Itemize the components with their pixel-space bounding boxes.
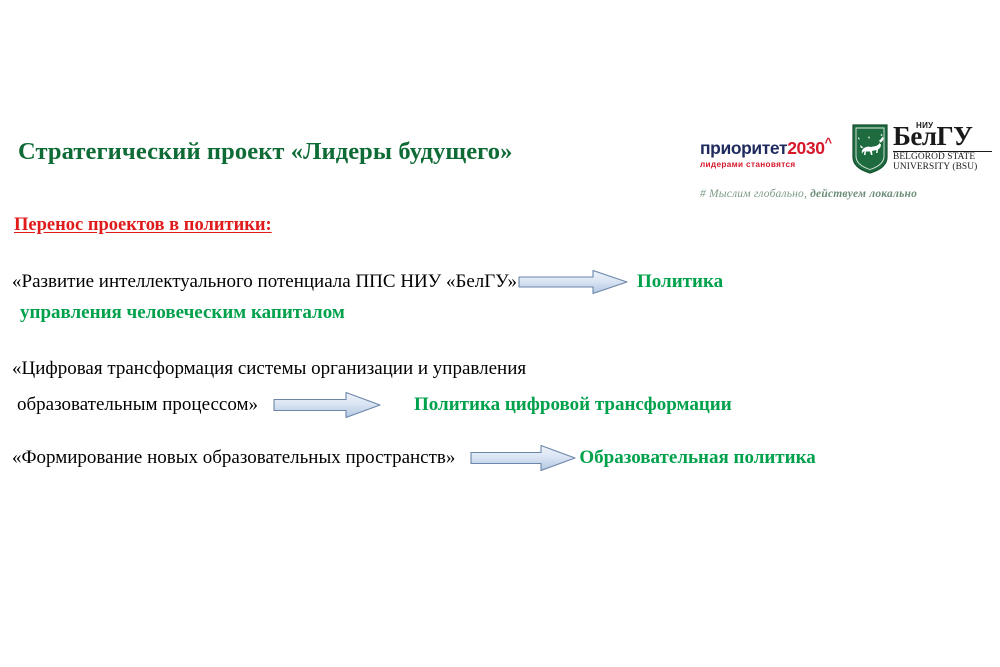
mapping-row-line: образовательным процессом» Политика цифр… — [17, 390, 732, 420]
bsu-logo-text: БелГУ НИУ BELGOROD STATE UNIVERSITY (BSU… — [893, 124, 993, 173]
mapping-source-text: «Формирование новых образовательных прос… — [12, 447, 455, 469]
mapping-source-text: «Развитие интеллектуального потенциала П… — [12, 271, 517, 293]
bsu-tagline: # Мыслим глобально, действуем локально — [700, 188, 917, 200]
mapping-row: «Формирование новых образовательных прос… — [12, 443, 816, 473]
bsu-logo: БелГУ НИУ BELGOROD STATE UNIVERSITY (BSU… — [852, 124, 992, 182]
mapping-row-line: управления человеческим капиталом — [14, 302, 723, 324]
mapping-row-line: «Формирование новых образовательных прос… — [12, 443, 816, 473]
mapping-row: «Цифровая трансформация системы организа… — [12, 358, 732, 420]
section-heading: Перенос проектов в политики: — [14, 215, 272, 236]
mapping-target-text: Политика — [637, 271, 723, 293]
mapping-target-text-cont: управления человеческим капиталом — [20, 302, 345, 324]
bsu-tagline-prefix: # Мыслим глобально, — [700, 188, 807, 200]
right-arrow-icon — [469, 443, 577, 473]
slide-canvas: приоритет2030^ лидерами становятся — [0, 0, 1000, 667]
bsu-niu-label: НИУ — [916, 122, 933, 130]
bsu-name-ru-wrap: БелГУ НИУ — [893, 124, 993, 150]
priority-logo-wordmark: приоритет2030^ — [700, 136, 850, 157]
priority-2030-logo: приоритет2030^ лидерами становятся — [700, 136, 850, 169]
bsu-tagline-strong: действуем локально — [810, 188, 917, 200]
mapping-source-text: «Цифровая трансформация системы организа… — [12, 358, 526, 380]
mapping-target-text: Образовательная политика — [579, 447, 815, 469]
mapping-row: «Развитие интеллектуального потенциала П… — [12, 268, 723, 324]
priority-logo-word-year: 2030 — [787, 138, 824, 158]
right-arrow-icon — [517, 268, 629, 296]
mapping-row-line: «Развитие интеллектуального потенциала П… — [12, 268, 723, 296]
branding-block: приоритет2030^ лидерами становятся — [700, 124, 990, 210]
right-arrow-icon — [272, 390, 382, 420]
page-title: Стратегический проект «Лидеры будущего» — [18, 138, 513, 166]
bsu-name-en-line2: UNIVERSITY (BSU) — [893, 163, 993, 173]
priority-logo-caret: ^ — [825, 135, 832, 150]
mapping-source-text-cont: образовательным процессом» — [17, 394, 258, 416]
priority-logo-subtitle: лидерами становятся — [700, 160, 850, 169]
mapping-target-text: Политика цифровой трансформации — [414, 394, 732, 416]
priority-logo-word-main: приоритет — [700, 138, 787, 158]
mapping-row-line: «Цифровая трансформация системы организа… — [12, 358, 732, 380]
belgorod-lion-shield-icon — [852, 124, 888, 174]
